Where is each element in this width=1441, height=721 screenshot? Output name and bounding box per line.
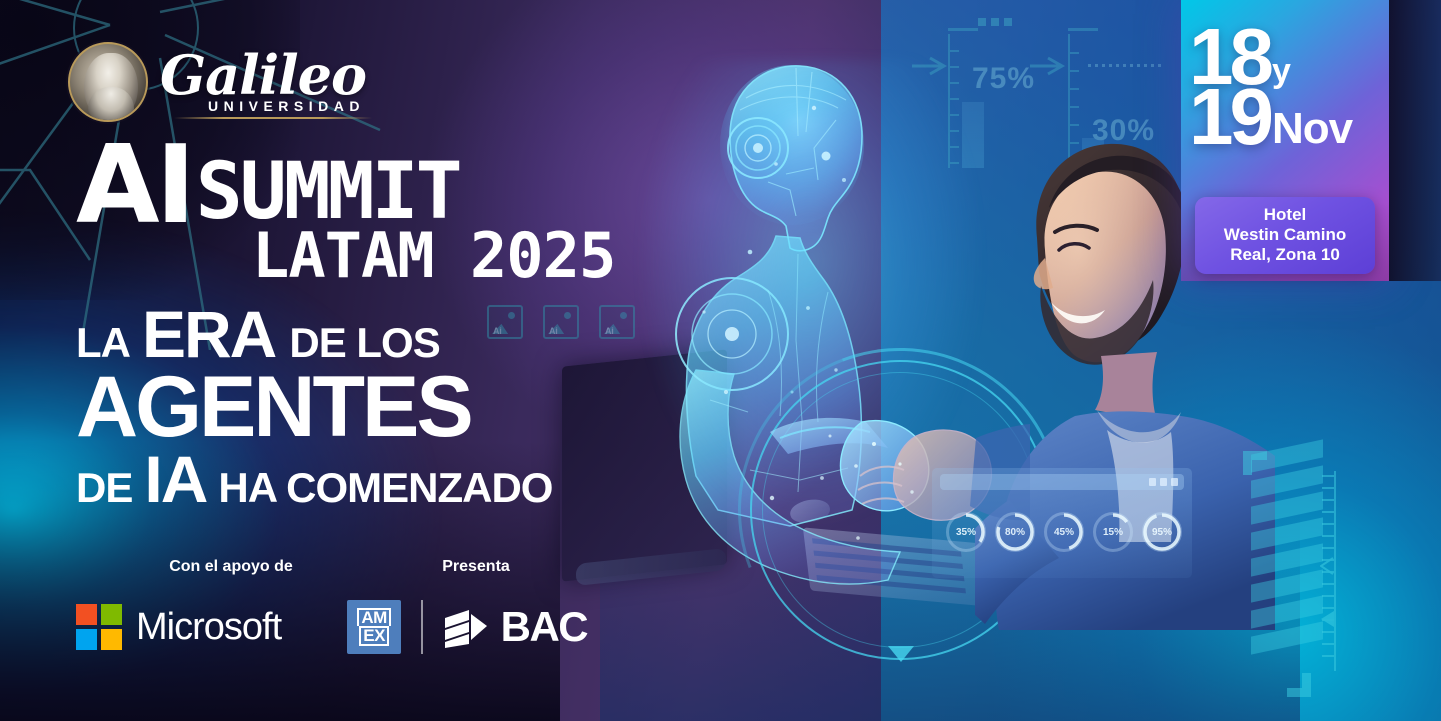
venue-line-3: Real, Zona 10	[1201, 245, 1369, 265]
galileo-bust-medallion-icon	[68, 42, 148, 122]
event-title: AI SUMMIT LATAM 2025	[76, 138, 615, 286]
bac-arrow-mark-icon	[443, 606, 491, 648]
bac-logo[interactable]: BAC	[443, 603, 588, 651]
hud-dashes-decoration	[1088, 64, 1161, 67]
tagline-de: DE	[76, 464, 132, 512]
donut-gauge-value: 95%	[1142, 512, 1182, 552]
hud-panel-titlebar	[940, 474, 1184, 490]
event-tagline: LA ERA DE LOS AGENTES DE IA HA COMENZADO	[76, 296, 552, 517]
venue-badge: Hotel Westin Camino Real, Zona 10	[1195, 197, 1375, 274]
microsoft-name: Microsoft	[136, 606, 281, 649]
date-panel-right-shadow	[1389, 0, 1441, 281]
diagonal-stripes-decoration	[1251, 447, 1323, 697]
date-panel: 18 y 19 Nov Hotel Westin Camino Real, Zo…	[1181, 0, 1389, 281]
tagline-ia: IA	[144, 441, 206, 517]
donut-gauge: 45%	[1044, 512, 1084, 552]
galileo-logo[interactable]: Galileo UNIVERSIDAD	[68, 36, 368, 128]
logo-underline	[174, 117, 372, 119]
logo-wordmark: Galileo UNIVERSIDAD	[160, 50, 366, 113]
title-ai: AI	[76, 138, 192, 233]
amex-logo[interactable]: AM EX	[347, 600, 401, 654]
donut-gauge-value: 80%	[995, 512, 1035, 552]
donut-gauge: 95%	[1142, 512, 1182, 552]
date-conjunction: y	[1272, 58, 1291, 86]
amex-line1: AM	[357, 608, 390, 626]
donut-gauge: 80%	[995, 512, 1035, 552]
venue-line-2: Westin Camino	[1201, 225, 1369, 245]
donut-gauge-value: 45%	[1044, 512, 1084, 552]
hud-donut-gauge-group: 35% 80% 45% 15% 95%	[946, 512, 1182, 552]
hud-ring-caret	[888, 646, 914, 662]
title-latam-year: LATAM 2025	[252, 227, 615, 286]
sponsor-divider	[421, 600, 423, 654]
amex-line2: EX	[359, 626, 389, 646]
donut-gauge: 35%	[946, 512, 986, 552]
title-summit: SUMMIT	[196, 157, 460, 227]
date-month: Nov	[1272, 111, 1352, 147]
logo-name: Galileo	[160, 50, 366, 101]
event-dates: 18 y 19 Nov	[1189, 24, 1352, 149]
donut-gauge: 15%	[1093, 512, 1133, 552]
date-day-2: 19	[1189, 84, 1270, 150]
ai-summit-banner: 75% 30% Ai Ai Ai	[0, 0, 1441, 721]
hud-panel-buttons	[1149, 478, 1178, 486]
bac-name: BAC	[501, 603, 588, 651]
hud-arrow-left-2	[1030, 56, 1066, 76]
tagline-ha-comenzado: HA COMENZADO	[218, 464, 552, 512]
microsoft-squares-icon	[76, 604, 122, 650]
measurement-scale-decoration	[1322, 471, 1346, 671]
microsoft-logo[interactable]: Microsoft	[76, 604, 281, 650]
venue-line-1: Hotel	[1201, 205, 1369, 225]
sponsor-section: Con el apoyo de Presenta Microsoft AM EX	[76, 558, 636, 654]
support-label: Con el apoyo de	[76, 558, 386, 576]
donut-gauge-value: 15%	[1093, 512, 1133, 552]
corner-bracket-bottom	[1287, 673, 1311, 697]
tagline-agentes: AGENTES	[76, 368, 471, 447]
hud-dots-decoration	[978, 18, 1012, 26]
donut-gauge-value: 35%	[946, 512, 986, 552]
presents-label: Presenta	[386, 558, 566, 576]
